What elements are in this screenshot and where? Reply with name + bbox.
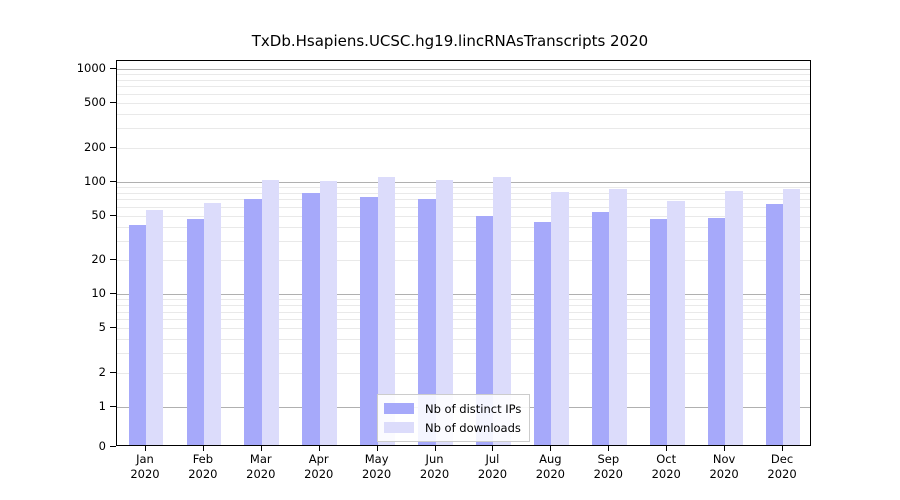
x-tick-mark	[724, 446, 725, 451]
x-tick-mark	[550, 446, 551, 451]
legend-swatch-icon	[384, 422, 414, 433]
bar-may-distinct-ips	[360, 197, 377, 445]
bar-oct-downloads	[667, 201, 684, 445]
x-tick-mark	[203, 446, 204, 451]
x-tick-label-apr: Apr2020	[304, 452, 333, 482]
y-tick-label: 5	[99, 320, 106, 334]
x-tick-year: 2020	[652, 467, 681, 482]
x-tick-mark	[608, 446, 609, 451]
x-tick-year: 2020	[304, 467, 333, 482]
x-tick-label-jan: Jan2020	[130, 452, 159, 482]
y-tick-label: 1	[99, 399, 106, 413]
gridline	[117, 69, 810, 70]
x-tick-label-aug: Aug2020	[536, 452, 565, 482]
y-tick-label: 20	[91, 252, 106, 266]
y-tick-label: 50	[91, 208, 106, 222]
bar-apr-distinct-ips	[302, 193, 319, 445]
x-axis-tick-labels: Jan2020Feb2020Mar2020Apr2020May2020Jun20…	[116, 446, 811, 500]
bar-mar-downloads	[262, 180, 279, 445]
gridline	[117, 94, 810, 95]
bar-oct-distinct-ips	[650, 219, 667, 445]
gridline	[117, 86, 810, 87]
x-tick-year: 2020	[536, 467, 565, 482]
bar-nov-distinct-ips	[708, 218, 725, 445]
x-tick-month: Mar	[246, 452, 275, 467]
x-tick-year: 2020	[478, 467, 507, 482]
y-tick-label: 500	[84, 95, 106, 109]
x-tick-mark	[435, 446, 436, 451]
x-tick-month: Jun	[420, 452, 449, 467]
x-tick-year: 2020	[420, 467, 449, 482]
x-tick-mark	[145, 446, 146, 451]
x-tick-month: Apr	[304, 452, 333, 467]
gridline	[117, 199, 810, 200]
gridline	[117, 80, 810, 81]
x-tick-label-nov: Nov2020	[709, 452, 738, 482]
bar-mar-distinct-ips	[244, 199, 261, 445]
gridline	[117, 182, 810, 183]
y-tick-label: 2	[99, 365, 106, 379]
x-tick-month: Jul	[478, 452, 507, 467]
legend-swatch-icon	[384, 403, 414, 414]
gridline	[117, 148, 810, 149]
bar-sep-distinct-ips	[592, 212, 609, 445]
x-tick-label-dec: Dec2020	[767, 452, 796, 482]
x-tick-month: Sep	[594, 452, 623, 467]
x-tick-year: 2020	[362, 467, 391, 482]
plot-area	[116, 60, 811, 446]
bar-sep-downloads	[609, 189, 626, 445]
bar-nov-downloads	[725, 191, 742, 445]
gridline	[117, 114, 810, 115]
x-tick-year: 2020	[188, 467, 217, 482]
x-tick-month: Nov	[709, 452, 738, 467]
chart-title: TxDb.Hsapiens.UCSC.hg19.lincRNAsTranscri…	[0, 32, 900, 50]
bar-dec-downloads	[783, 189, 800, 445]
x-tick-label-feb: Feb2020	[188, 452, 217, 482]
x-tick-mark	[319, 446, 320, 451]
x-tick-year: 2020	[246, 467, 275, 482]
x-tick-label-mar: Mar2020	[246, 452, 275, 482]
x-tick-label-oct: Oct2020	[652, 452, 681, 482]
x-tick-year: 2020	[130, 467, 159, 482]
bar-apr-downloads	[320, 181, 337, 445]
x-tick-label-sep: Sep2020	[594, 452, 623, 482]
y-tick-label: 100	[84, 174, 106, 188]
y-tick-label: 1000	[77, 61, 106, 75]
legend-label: Nb of downloads	[425, 421, 521, 435]
x-tick-mark	[666, 446, 667, 451]
x-tick-year: 2020	[594, 467, 623, 482]
legend-label: Nb of distinct IPs	[425, 402, 521, 416]
chart-legend: Nb of distinct IPsNb of downloads	[377, 394, 530, 442]
x-tick-label-jun: Jun2020	[420, 452, 449, 482]
bar-aug-distinct-ips	[534, 222, 551, 445]
x-tick-mark	[377, 446, 378, 451]
x-tick-label-jul: Jul2020	[478, 452, 507, 482]
bar-feb-distinct-ips	[187, 219, 204, 445]
gridline	[117, 128, 810, 129]
bar-dec-distinct-ips	[766, 204, 783, 445]
x-tick-month: Oct	[652, 452, 681, 467]
x-tick-mark	[492, 446, 493, 451]
y-tick-label: 0	[99, 439, 106, 453]
chart-figure: TxDb.Hsapiens.UCSC.hg19.lincRNAsTranscri…	[0, 0, 900, 500]
bar-feb-downloads	[204, 203, 221, 445]
x-tick-month: Jan	[130, 452, 159, 467]
gridline	[117, 193, 810, 194]
legend-item: Nb of downloads	[384, 418, 521, 437]
x-tick-label-may: May2020	[362, 452, 391, 482]
y-tick-label: 200	[84, 140, 106, 154]
x-tick-year: 2020	[767, 467, 796, 482]
x-tick-month: Feb	[188, 452, 217, 467]
y-axis-tick-labels: 01251020501002005001000	[0, 0, 106, 500]
x-tick-year: 2020	[709, 467, 738, 482]
bar-jan-downloads	[146, 210, 163, 445]
bar-jan-distinct-ips	[129, 225, 146, 445]
x-tick-month: Aug	[536, 452, 565, 467]
gridline	[117, 74, 810, 75]
x-tick-mark	[782, 446, 783, 451]
y-tick-label: 10	[91, 286, 106, 300]
bar-aug-downloads	[551, 192, 568, 445]
x-tick-mark	[261, 446, 262, 451]
x-tick-month: Dec	[767, 452, 796, 467]
legend-item: Nb of distinct IPs	[384, 399, 521, 418]
gridline	[117, 187, 810, 188]
gridline	[117, 103, 810, 104]
x-tick-month: May	[362, 452, 391, 467]
